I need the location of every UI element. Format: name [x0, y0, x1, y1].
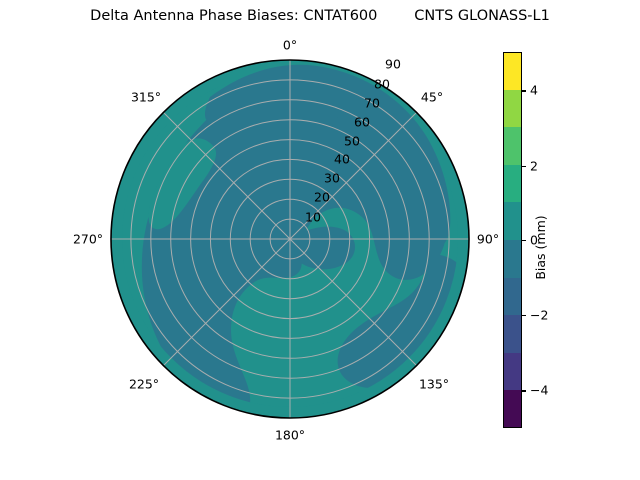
angular-tick-0: 0°	[283, 38, 297, 53]
polar-axes[interactable]: 0° 45° 90° 135° 180° 225° 270° 315° 10 2…	[110, 59, 470, 419]
angular-tick-90: 90°	[477, 232, 499, 247]
angular-tick-225: 225°	[129, 377, 159, 392]
radial-tick-30: 30	[324, 171, 340, 186]
colorbar[interactable]	[503, 52, 522, 428]
colorbar-band-2-3	[503, 127, 522, 165]
colorbar-tick-mark-n2	[522, 315, 526, 316]
radial-tick-40: 40	[334, 152, 350, 167]
colorbar-axis-label: Bias (mm)	[533, 215, 548, 279]
colorbar-tick-mark-n4	[522, 390, 526, 391]
colorbar-band-n4-n3	[503, 353, 522, 391]
colorbar-tick-label-2: 2	[530, 158, 538, 173]
colorbar-tick-label-4: 4	[530, 83, 538, 98]
polar-grid	[111, 60, 469, 418]
radial-tick-60: 60	[354, 115, 370, 130]
radial-tick-20: 20	[314, 190, 330, 205]
colorbar-band-n1-0	[503, 240, 522, 278]
colorbar-band-1-2	[503, 165, 522, 203]
radial-tick-70: 70	[364, 96, 380, 111]
angular-tick-135: 135°	[419, 377, 449, 392]
colorbar-tick-label-n4: −4	[530, 383, 548, 398]
colorbar-band-n2-n1	[503, 278, 522, 316]
colorbar-band-0-1	[503, 202, 522, 240]
figure-title: Delta Antenna Phase Biases: CNTAT600 CNT…	[0, 8, 640, 24]
polar-plot-svg	[110, 59, 470, 419]
colorbar-band-n5-n4	[503, 390, 522, 428]
angular-tick-180: 180°	[275, 428, 305, 443]
figure-canvas: Delta Antenna Phase Biases: CNTAT600 CNT…	[0, 0, 640, 480]
colorbar-tick-mark-0	[522, 240, 526, 241]
colorbar-tick-mark-4	[522, 90, 526, 91]
radial-tick-90: 90	[385, 57, 401, 72]
radial-tick-50: 50	[344, 134, 360, 149]
colorbar-tick-mark-2	[522, 166, 526, 167]
colorbar-band-n3-n2	[503, 315, 522, 353]
angular-tick-315: 315°	[131, 90, 161, 105]
colorbar-band-4-5	[503, 52, 522, 90]
radial-tick-80: 80	[374, 77, 390, 92]
radial-tick-10: 10	[305, 210, 321, 225]
angular-tick-45: 45°	[421, 90, 443, 105]
colorbar-tick-label-n2: −2	[530, 308, 548, 323]
angular-tick-270: 270°	[73, 232, 103, 247]
colorbar-band-3-4	[503, 90, 522, 128]
